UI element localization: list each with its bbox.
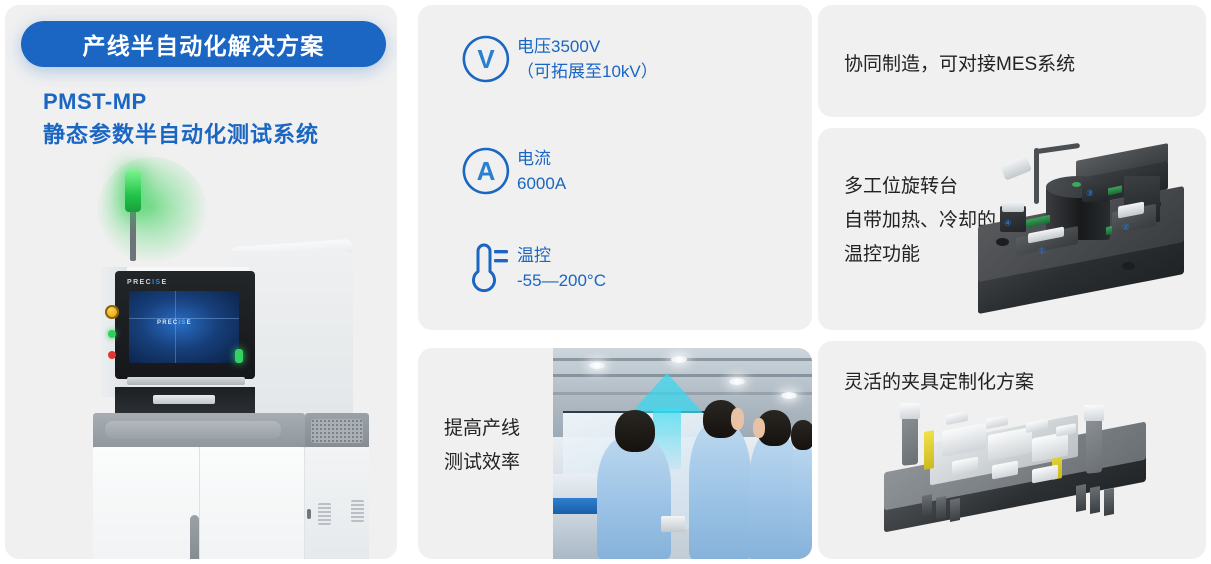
custom-fixture-label: 灵活的夹具定制化方案 <box>844 367 1034 394</box>
mounting-hole <box>996 238 1009 246</box>
side-green-indicator <box>235 349 243 363</box>
probe-clamp <box>946 411 968 425</box>
fixture-leg <box>936 496 946 520</box>
efficiency-photo-panel: 提高产线 测试效率 <box>418 348 812 559</box>
probe-clamp <box>986 415 1008 429</box>
lamp-glow <box>97 157 207 267</box>
rotary-table-panel: 多工位旋转台 自带加热、冷却的 温控功能 <box>818 128 1206 330</box>
machine-cabinet-door-split <box>199 447 200 559</box>
callout-3: ③ <box>1086 188 1094 199</box>
station-4-clamp <box>1002 202 1024 212</box>
fixture-leg <box>1104 488 1114 516</box>
spec-line1: 电流 <box>517 146 566 171</box>
mes-integration-panel: 协同制造，可对接MES系统 <box>818 5 1206 117</box>
voltage-circle-icon: V <box>455 33 517 85</box>
spec-row-temperature: 温控 -55—200°C <box>455 241 606 295</box>
callout-2: ② <box>1122 222 1130 233</box>
solution-title-text: 产线半自动化解决方案 <box>83 27 325 61</box>
spec-line2: （可拓展至10kV） <box>517 59 658 84</box>
fixture-guide-rail <box>924 430 934 470</box>
machine-screen <box>129 291 239 363</box>
clamp-handle-right <box>1084 405 1104 421</box>
custom-test-fixture-render <box>880 397 1170 547</box>
person-face <box>753 418 765 438</box>
fixture-leg <box>1076 484 1086 512</box>
green-led-indicator <box>108 330 116 338</box>
fixture-leg <box>1090 486 1100 514</box>
machine-load-tray <box>153 395 215 404</box>
multi-station-rotary-table-render: ① ② ③ ④ <box>972 142 1200 320</box>
person-figure <box>689 422 751 559</box>
svg-text:A: A <box>477 156 496 186</box>
cabinet-latch-knob <box>307 509 311 519</box>
status-tower-lamp-icon <box>125 170 141 212</box>
spec-line1: 电压3500V <box>517 34 658 59</box>
spec-row-current: A 电流 6000A <box>455 145 566 197</box>
product-name-label: 静态参数半自动化测试系统 <box>43 117 319 149</box>
camera-head <box>1000 155 1032 180</box>
machine-brand-top: PRECISE <box>127 279 168 286</box>
person-head <box>791 420 812 450</box>
product-code-label: PMST-MP <box>43 89 147 115</box>
side-vent-lower <box>351 500 364 522</box>
person-figure <box>791 440 812 559</box>
person-head <box>615 410 655 452</box>
test-system-machine-illustration: PRECISE PRECISE <box>5 155 397 559</box>
ceiling-lamp <box>781 392 797 399</box>
ceiling-lamp <box>729 378 745 385</box>
machine-drawer-mesh-vent <box>311 419 363 443</box>
red-led-indicator <box>108 351 116 359</box>
camera-arm-horizontal <box>1036 143 1080 154</box>
side-vent-upper <box>318 503 331 525</box>
spec-line2: 6000A <box>517 171 566 196</box>
fixture-leg <box>950 498 960 522</box>
machine-head-strip <box>127 377 245 385</box>
callout-4: ④ <box>1004 218 1012 229</box>
thermometer-icon <box>455 241 517 295</box>
callout-1: ① <box>1038 246 1046 257</box>
spec-text-current: 电流 6000A <box>517 146 566 196</box>
engineers-reviewing-board-photo <box>553 348 812 559</box>
clamp-lever-right <box>1086 412 1102 474</box>
product-overview-panel: 产线半自动化解决方案 PMST-MP 静态参数半自动化测试系统 PRECISE … <box>5 5 397 559</box>
custom-fixture-panel: 灵活的夹具定制化方案 <box>818 341 1206 559</box>
drum-green-marker <box>1072 182 1081 187</box>
spec-text-voltage: 电压3500V （可拓展至10kV） <box>517 34 658 84</box>
ceiling-lamp <box>671 356 687 363</box>
infographic-root: 产线半自动化解决方案 PMST-MP 静态参数半自动化测试系统 PRECISE … <box>0 0 1211 564</box>
spec-line2: -55—200°C <box>517 268 606 293</box>
person-figure <box>597 436 671 559</box>
person-face <box>731 408 744 430</box>
handheld-document <box>661 516 685 532</box>
spec-text-temperature: 温控 -55—200°C <box>517 243 606 293</box>
solution-title-pill: 产线半自动化解决方案 <box>21 21 386 67</box>
svg-text:V: V <box>477 44 495 74</box>
camera-arm-vertical <box>1034 148 1039 204</box>
mounting-hole <box>1122 262 1135 270</box>
current-circle-icon: A <box>455 145 517 197</box>
clamp-handle-left <box>900 403 920 419</box>
fixture-leg <box>922 494 932 518</box>
machine-drawer-inset <box>105 421 281 439</box>
specifications-panel: V 电压3500V （可拓展至10kV） A 电流 6000A <box>418 5 812 330</box>
mes-integration-text: 协同制造，可对接MES系统 <box>844 49 1075 76</box>
spec-line1: 温控 <box>517 243 606 268</box>
machine-brand-screen: PRECISE <box>157 320 192 326</box>
cabinet-door-handle <box>190 515 199 559</box>
ceiling-lamp <box>589 362 605 369</box>
spec-row-voltage: V 电压3500V （可拓展至10kV） <box>455 33 658 85</box>
emergency-stop-icon <box>105 305 119 319</box>
